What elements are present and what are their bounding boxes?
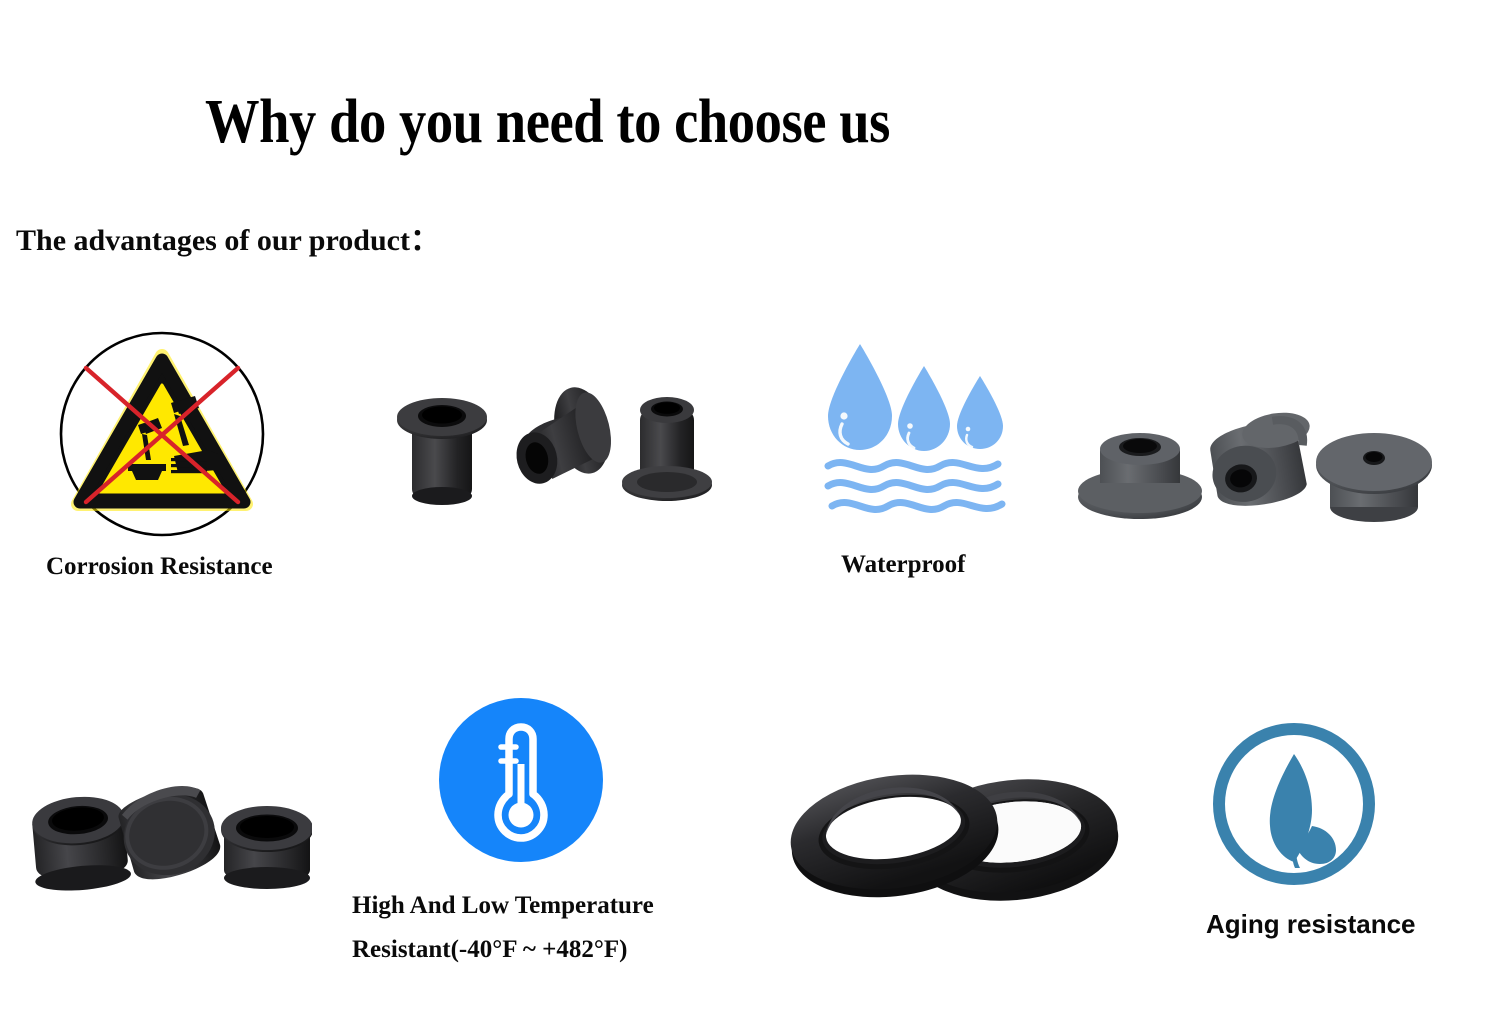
rubber-ring-pair-black bbox=[782, 752, 1122, 912]
subtitle-advantages: The advantages of our product： bbox=[16, 222, 440, 260]
caption-aging-resistance: Aging resistance bbox=[1206, 908, 1416, 941]
thermometer-icon bbox=[437, 696, 605, 864]
rubber-grommet-trio-gray bbox=[1072, 405, 1432, 540]
caption-waterproof: Waterproof bbox=[841, 548, 966, 581]
caption-corrosion-resistance: Corrosion Resistance bbox=[46, 550, 273, 583]
no-corrosion-icon bbox=[58, 330, 266, 538]
rubber-grommet-trio-black bbox=[378, 365, 728, 520]
no-corrosion-svg bbox=[58, 330, 266, 538]
water-drop-group bbox=[828, 344, 1003, 451]
caption-temperature-line-1: High And Low Temperature bbox=[352, 884, 752, 928]
leaf-in-circle-icon bbox=[1208, 718, 1380, 890]
water-drops-waves-icon bbox=[822, 334, 1022, 514]
water-waves bbox=[828, 463, 1002, 510]
caption-high-low-temperature: High And Low Temperature Resistant(-40°F… bbox=[352, 884, 752, 972]
caption-temperature-line-2: Resistant(-40°F ~ +482°F) bbox=[352, 928, 752, 972]
rubber-plug-trio-black bbox=[22, 782, 312, 897]
page-title: Why do you need to choose us bbox=[205, 88, 1085, 156]
